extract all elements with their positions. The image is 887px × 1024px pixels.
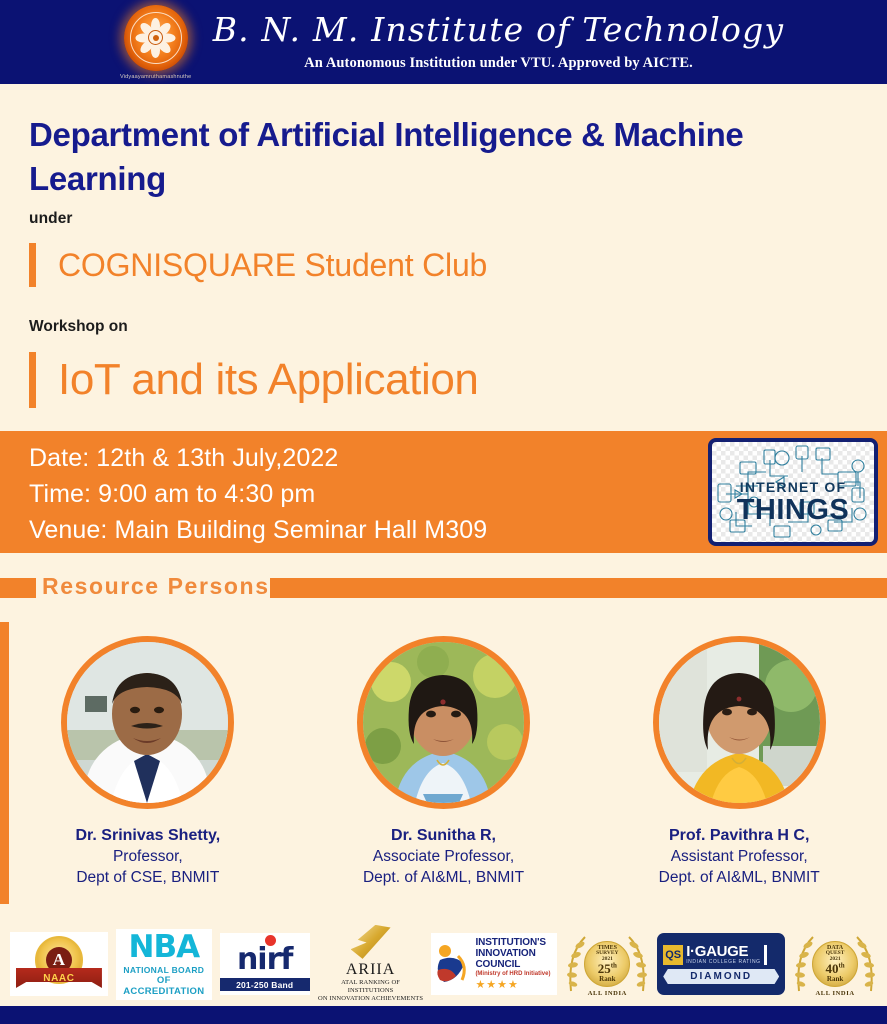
nba-wordmark: NBA [116,932,212,963]
person-name: Dr. Sunitha R, [391,825,496,847]
person-dept: Dept of CSE, BNMIT [76,868,219,889]
qs-wordmark: I·GAUGE [686,944,760,959]
footer-navy-bar [0,1006,887,1024]
lotus-emblem-icon [136,18,176,58]
times-survey-badge: TIMES SURVEY 2021 25th Rank ALL INDIA [565,925,649,1003]
times-rank-suffix: th [611,962,617,970]
nba-line2: OF ACCREDITATION [116,975,212,997]
iic-mark-icon [436,944,470,984]
person-role: Assistant Professor, [671,847,808,868]
event-date: Date: 12th & 13th July,2022 [29,444,487,473]
nba-line1: NATIONAL BOARD [116,965,212,975]
resource-person-card: Dr. Sunitha R, Associate Professor, Dept… [296,636,592,888]
iot-label-top: INTERNET OF [712,479,874,495]
event-poster: Vidyaayamruthamashnuthe B. N. M. Institu… [0,0,887,1024]
ariia-wordmark: ARIIA [318,961,424,979]
avatar [357,636,530,809]
iic-line1: INSTITUTION'S [475,937,550,948]
institute-logo: Vidyaayamruthamashnuthe [113,2,199,82]
institute-header: Vidyaayamruthamashnuthe B. N. M. Institu… [0,0,887,84]
avatar [61,636,234,809]
person-dept: Dept. of AI&ML, BNMIT [659,868,820,889]
department-title: Department of Artificial Intelligence & … [29,113,789,201]
nirf-dot-icon [265,935,276,946]
workshop-label: Workshop on [29,318,128,336]
dataquest-rank-word: Rank [827,975,843,983]
times-rank: 25 [598,961,611,976]
qs-subtitle: INDIAN COLLEGE RATING [686,959,760,965]
resource-person-card: Prof. Pavithra H C, Assistant Professor,… [591,636,887,888]
ariia-mark-icon [351,925,391,959]
ariia-line1: ATAL RANKING OF INSTITUTIONS [318,979,424,995]
iot-label-bottom: THINGS [712,494,874,527]
institute-name: B. N. M. Institute of Technology [213,12,785,48]
event-time: Time: 9:00 am to 4:30 pm [29,480,487,509]
accreditation-logos: A NAAC NBA NATIONAL BOARD OF ACCREDITATI… [0,922,887,1006]
qs-mark: QS [663,945,683,965]
avatar [653,636,826,809]
person-name: Dr. Srinivas Shetty, [76,825,221,847]
times-scope: ALL INDIA [565,990,649,997]
nirf-wordmark: nirf [220,944,310,976]
laurel-left-icon [793,935,815,993]
person-role: Professor, [113,847,183,868]
person-photo-3 [659,642,820,803]
dataquest-badge: DATA QUEST 2021 40th Rank ALL INDIA [793,925,877,1003]
qs-tier: DIAMOND [663,969,779,984]
qs-igauge-logo: QS I·GAUGE INDIAN COLLEGE RATING DIAMOND [657,925,785,1003]
iic-star-rating: ★★★★ [475,979,550,991]
iic-line3: COUNCIL [475,959,550,970]
times-rank-word: Rank [599,975,615,983]
event-venue: Venue: Main Building Seminar Hall M309 [29,516,487,545]
club-accent-bar [29,243,36,287]
institute-crest-icon [124,5,188,71]
workshop-topic: IoT and its Application [58,350,479,410]
resource-heading-bar [270,578,887,598]
naac-label: NAAC [16,968,102,988]
event-details-list: Date: 12th & 13th July,2022 Time: 9:00 a… [29,444,487,545]
nirf-band: 201-250 Band [220,978,310,991]
topic-accent-bar [29,352,36,408]
person-photo-1 [67,642,228,803]
iic-ministry: (Ministry of HRD Initiative) [475,971,550,978]
resource-persons-heading: Resource Persons [42,573,270,600]
header-content: Vidyaayamruthamashnuthe B. N. M. Institu… [103,2,785,82]
resource-persons-list: Dr. Srinivas Shetty, Professor, Dept of … [0,636,887,888]
under-label: under [29,210,73,228]
laurel-right-icon [855,935,877,993]
naac-logo: A NAAC [10,925,108,1003]
header-text-block: B. N. M. Institute of Technology An Auto… [213,12,785,71]
institute-subtitle: An Autonomous Institution under VTU. App… [304,55,693,72]
laurel-right-icon [627,935,649,993]
dataquest-scope: ALL INDIA [793,990,877,997]
person-photo-2 [363,642,524,803]
qs-divider [764,945,767,965]
club-name: COGNISQUARE Student Club [58,243,487,287]
nirf-logo: nirf 201-250 Band [220,925,310,1003]
person-role: Associate Professor, [373,847,514,868]
iic-logo: INSTITUTION'S INNOVATION COUNCIL (Minist… [431,925,557,1003]
iic-line2: INNOVATION [475,948,550,959]
resource-person-card: Dr. Srinivas Shetty, Professor, Dept of … [0,636,296,888]
dataquest-rank: 40 [825,961,838,976]
resource-heading-square [0,578,36,598]
dataquest-rank-suffix: th [838,962,844,970]
nba-logo: NBA NATIONAL BOARD OF ACCREDITATION [116,925,212,1003]
laurel-left-icon [565,935,587,993]
ariia-line2: ON INNOVATION ACHIEVEMENTS [318,995,424,1003]
iot-graphic: INTERNET OF THINGS [708,438,878,546]
person-name: Prof. Pavithra H C, [669,825,809,847]
person-dept: Dept. of AI&ML, BNMIT [363,868,524,889]
ariia-logo: ARIIA ATAL RANKING OF INSTITUTIONS ON IN… [318,925,424,1003]
crest-motto: Vidyaayamruthamashnuthe [120,74,191,80]
